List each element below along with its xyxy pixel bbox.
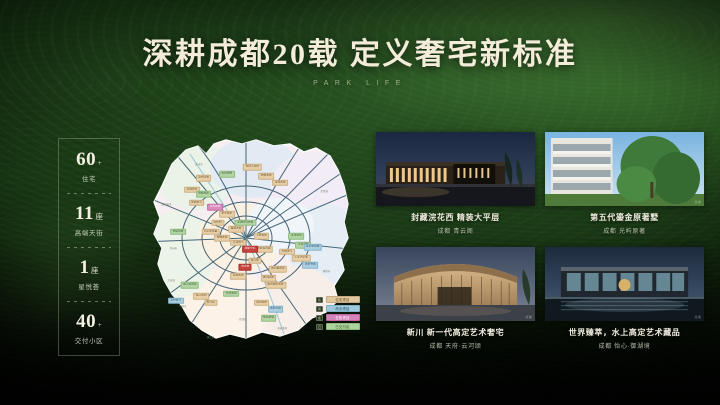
legend-label: 住宅项目 [326,296,360,303]
photo-watermark: 龙湖 [525,315,532,319]
stat-label: 高端天街 [75,227,103,237]
card-xinchuan[interactable]: 龙湖新川 新一代高定艺术奢宅成都 天府·云河颂 [376,247,535,354]
stat-label: 交付小区 [75,335,103,345]
stat-value: 11 [75,204,94,223]
map-project-pill[interactable]: 金楠天街 [214,235,230,242]
map-project-pill[interactable]: 牧马山 [204,299,217,306]
legend-key-icon: 已 [316,324,323,330]
map-project-pill[interactable]: 温江天街 [193,293,209,300]
card-diwudai[interactable]: 龙湖第五代鎏金原著墅成都 光屿原著 [545,132,704,239]
legend-row[interactable]: 住住宅项目 [316,296,360,303]
map-project-pill[interactable]: 九里晴川 [231,239,247,246]
map-project-pill[interactable]: 蜀都天街 [228,226,244,233]
map-region-label: 简阳市 [321,269,331,273]
map-project-pill[interactable]: 成都中心 [242,246,258,253]
stat-unit: 座 [95,213,103,221]
map-region-label: 都江堰市 [160,203,173,207]
card-fengcang[interactable]: 封藏浣花西 精装大平层成都 青云阁 [376,132,535,239]
card-photo[interactable]: 龙湖 [545,247,704,321]
map-project-pill[interactable]: 新津天街 [224,291,240,298]
map-project-pill[interactable]: 光华星悦荟 [201,228,219,235]
legend-key-icon: 住 [316,297,323,303]
legend-row[interactable]: 在在售项目 [316,314,360,321]
map-project-pill[interactable]: 天府锦绣 [219,171,235,178]
stat-number: 1座 [80,258,99,277]
map-region-label: 蒲江县 [205,336,215,340]
map-region-label: 邛崃市 [177,305,187,309]
stat-unit: + [98,321,102,329]
card-subtitle: 成都 天府·云河颂 [376,341,535,350]
map-region-label: 彭州市 [194,163,204,167]
map-project-pill[interactable]: 郫都天街 [196,191,212,198]
legend-label: 商业项目 [326,305,360,312]
stat-number: 11座 [75,204,103,223]
map-project-pill[interactable]: 天府书院 [302,262,318,269]
map-project-pill[interactable]: 大面壹号 [279,248,295,255]
card-subtitle: 成都 光屿原著 [545,226,704,235]
stat-item: 11座高端天街 [59,193,119,247]
card-title: 封藏浣花西 精装大平层 [376,212,535,223]
map-project-pill[interactable]: 锦官城 [248,257,261,264]
stat-label: 住宅 [82,173,96,183]
page-subtitle: PARK LIFE [0,80,720,87]
map-project-pill[interactable]: 光屿原著 [207,204,223,211]
card-photo[interactable]: 龙湖 [545,132,704,206]
photo-watermark: 龙湖 [694,200,701,204]
map-project-pill[interactable]: 眉山天街 [254,299,270,306]
stat-value: 60 [76,150,96,169]
stat-item: 1座星悦荟 [59,247,119,301]
page-title: 深耕成都20载 定义奢宅新标准 [0,38,720,71]
stat-label: 星悦荟 [78,281,99,291]
map-project-pill[interactable]: 怡心御湖境 [269,266,287,273]
map-project-pill[interactable]: 犀浦壹号 [189,200,205,207]
map-legend[interactable]: 住住宅项目商商业项目在在售项目已已交付区 [316,296,360,330]
card-photo[interactable]: 龙湖 [376,247,535,321]
stat-number: 40+ [76,312,102,331]
legend-key-icon: 商 [316,306,323,312]
map-region-label: 大邑县 [166,278,176,282]
map-project-pill[interactable]: 崇州壹号 [168,297,184,304]
map-project-pill[interactable]: 三圣乡印象 [292,255,310,262]
stat-item: 60+住宅 [59,139,119,193]
stat-value: 40 [76,312,96,331]
map-project-pill[interactable]: 温江云锦园 [180,282,198,289]
card-photo[interactable] [376,132,535,206]
map-region-label: 金堂县 [319,190,329,194]
stat-item: 40+交付小区 [59,301,119,355]
map-project-pill[interactable]: 龙潭天街 [272,180,288,187]
map-project-pill[interactable]: 西宸原著 [170,228,186,235]
map-region-label: 崇州市 [168,247,178,251]
card-title: 新川 新一代高定艺术奢宅 [376,327,535,338]
photo-watermark: 龙湖 [694,315,701,319]
map-project-pill[interactable]: 青白江天街 [243,164,261,171]
map-project-pill[interactable]: 龙泉天街 [289,233,305,240]
header: 深耕成都20载 定义奢宅新标准 PARK LIFE [0,38,720,87]
stats-panel: 60+住宅11座高端天街1座星悦荟40+交付小区 [58,138,120,356]
map-project-pill[interactable]: 龙泉驿新城 [303,244,321,251]
map-project-pill[interactable]: 双流天街 [231,273,247,280]
map-region-label: 天府新区 [276,327,289,331]
map-project-pill[interactable]: 上城天街 [254,233,270,240]
card-title: 第五代鎏金原著墅 [545,212,704,223]
legend-row[interactable]: 商商业项目 [316,305,360,312]
map-project-pill[interactable]: 彭州印象 [196,175,212,182]
map-project-pill[interactable]: 龙湖时代天街 [235,220,256,227]
map-project-pill[interactable]: 天府公园 [268,306,284,313]
map-project-pill[interactable]: 新都天街 [258,173,274,180]
card-subtitle: 成都 怡心·御湖境 [545,341,704,350]
map-project-pill[interactable]: 视高新城 [261,315,277,322]
card-shijie[interactable]: 龙湖世界臻萃，水上高定艺术藏品成都 怡心·御湖境 [545,247,704,354]
legend-label: 已交付区 [326,323,360,330]
map-project-pill[interactable]: 浣花西 [211,220,224,227]
map-project-pill[interactable]: 金沙天街 [219,211,235,218]
stat-unit: + [98,159,102,167]
stat-number: 60+ [76,150,102,169]
project-card-grid: 封藏浣花西 精装大平层成都 青云阁龙湖第五代鎏金原著墅成都 光屿原著龙湖新川 新… [376,132,704,354]
slide-canvas: 深耕成都20载 定义奢宅新标准 PARK LIFE 60+住宅11座高端天街1座… [0,0,720,405]
legend-key-icon: 在 [316,315,323,321]
stat-unit: 座 [91,267,99,275]
legend-row[interactable]: 已已交付区 [316,323,360,330]
map-project-pill[interactable]: 麓山国际 [261,275,277,282]
stat-value: 1 [80,258,90,277]
map-project-pill[interactable]: 天府新区天街 [265,282,286,289]
card-subtitle: 成都 青云阁 [376,226,535,235]
map-region-label: 新津区 [238,318,248,322]
card-title: 世界臻萃，水上高定艺术藏品 [545,327,704,338]
map-project-pill[interactable]: 西派系 [239,264,252,271]
legend-label: 在售项目 [326,314,360,321]
